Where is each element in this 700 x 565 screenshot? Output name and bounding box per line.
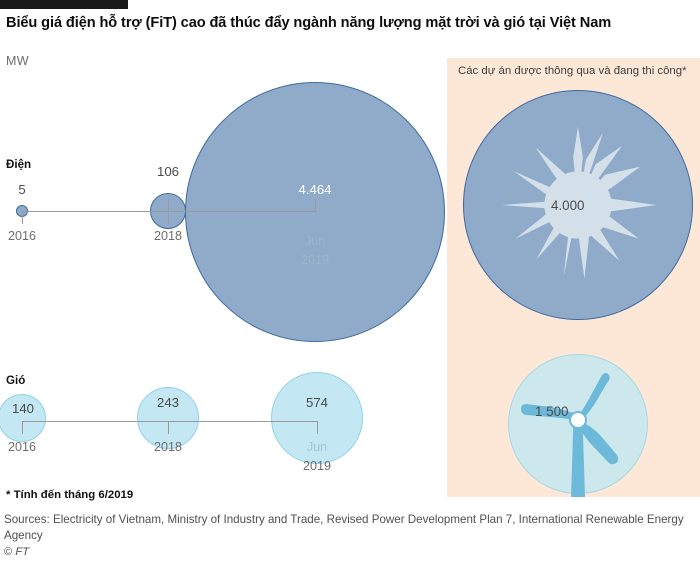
page-title: Biểu giá điện hỗ trợ (FiT) cao đã thúc đ…	[6, 14, 696, 32]
series-label-solar: Điện	[6, 158, 31, 171]
solar-year-2019-year: 2019	[293, 253, 337, 267]
solar-bubble-2019	[185, 82, 445, 342]
solar-tick-2018	[168, 199, 169, 224]
copyright: © FT	[4, 546, 29, 558]
sources-text: Sources: Electricity of Vietnam, Ministr…	[4, 512, 684, 543]
pipeline-wind-value: 1 500	[535, 404, 569, 419]
wind-year-2016: 2016	[1, 440, 43, 454]
wind-year-2019-year: 2019	[295, 459, 339, 473]
solar-year-2019-month: Jun	[293, 234, 337, 248]
wind-year-2019-month: Jun	[295, 440, 339, 454]
pipeline-panel-title: Các dự án được thông qua và đang thi côn…	[458, 64, 698, 79]
solar-year-2018: 2018	[146, 229, 190, 243]
footnote: * Tính đến tháng 6/2019	[6, 489, 133, 501]
ft-top-rule	[0, 0, 128, 9]
wind-tick-2018	[168, 421, 169, 434]
wind-axis-line	[22, 421, 317, 422]
wind-value-2016: 140	[2, 401, 44, 416]
solar-value-2016: 5	[2, 182, 42, 197]
pipeline-solar-value: 4.000	[551, 198, 585, 213]
solar-value-2019: 4.464	[275, 182, 355, 197]
infographic-canvas: Biểu giá điện hỗ trợ (FiT) cao đã thúc đ…	[0, 0, 700, 565]
wind-turbine-icon	[520, 363, 636, 497]
solar-year-2016: 2016	[1, 229, 43, 243]
wind-tick-2019	[317, 421, 318, 434]
wind-value-2018: 243	[146, 395, 190, 410]
wind-year-2018: 2018	[146, 440, 190, 454]
copyright-mark: ©	[4, 546, 12, 558]
solar-tick-2019	[315, 199, 316, 212]
wind-tick-2016	[22, 421, 23, 434]
copyright-text: FT	[15, 546, 29, 558]
solar-axis-line	[22, 211, 316, 212]
unit-label: MW	[6, 54, 29, 68]
series-label-wind: Gió	[6, 374, 25, 387]
solar-value-2018: 106	[138, 164, 198, 179]
wind-value-2019: 574	[295, 395, 339, 410]
solar-tick-2016	[22, 211, 23, 224]
